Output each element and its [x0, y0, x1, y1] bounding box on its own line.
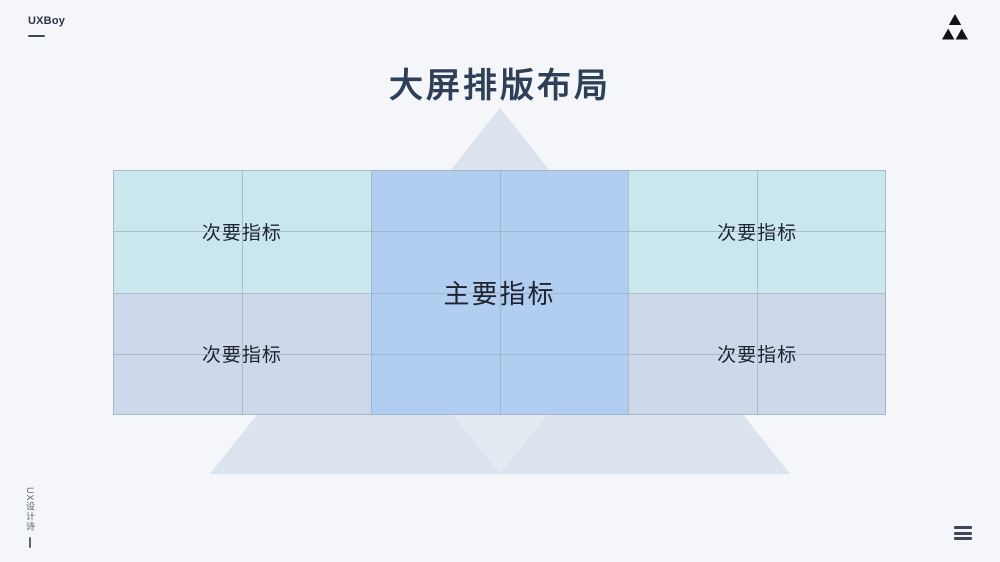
vertical-brand-underline [29, 537, 31, 548]
grid-cell-r1c6 [757, 170, 886, 231]
grid-cell-r1c2 [242, 170, 371, 231]
hamburger-menu-icon[interactable] [954, 526, 972, 540]
page-title: 大屏排版布局 [0, 58, 1000, 107]
brand-underline [28, 35, 45, 37]
grid-cell-r4c6 [757, 354, 886, 415]
grid-cell-r2c4 [499, 231, 628, 292]
brand-mark: UXBoy [28, 14, 65, 37]
grid-cell-r3c4 [499, 293, 628, 354]
grid-cell-r2c3 [371, 231, 500, 292]
grid-cell-r4c5 [628, 354, 757, 415]
grid-cell-r1c1 [113, 170, 242, 231]
grid-cell-r4c4 [499, 354, 628, 415]
triangle-trio-logo-icon [938, 12, 972, 44]
menu-bar-2 [954, 532, 972, 535]
vertical-brand-label: UX设计诗 [24, 487, 35, 532]
grid-cell-r3c6 [757, 293, 886, 354]
grid-cell-r4c3 [371, 354, 500, 415]
menu-bar-1 [954, 526, 972, 529]
slide-canvas: UXBoy 大屏排版布局 [0, 0, 1000, 562]
grid-cell-r3c3 [371, 293, 500, 354]
layout-diagram: 次要指标 次要指标 主要指标 次要指标 次要指标 [113, 170, 886, 415]
vertical-brand-mark: UX设计诗 [24, 487, 35, 548]
grid-cell-r3c5 [628, 293, 757, 354]
brand-name: UXBoy [28, 14, 65, 28]
grid-cell-r3c2 [242, 293, 371, 354]
grid-cell-r1c3 [371, 170, 500, 231]
layout-grid-cells [113, 170, 886, 415]
grid-cell-r1c5 [628, 170, 757, 231]
grid-cell-r2c5 [628, 231, 757, 292]
grid-cell-r2c6 [757, 231, 886, 292]
grid-cell-r4c1 [113, 354, 242, 415]
grid-cell-r2c2 [242, 231, 371, 292]
grid-cell-r1c4 [499, 170, 628, 231]
grid-cell-r4c2 [242, 354, 371, 415]
grid-cell-r2c1 [113, 231, 242, 292]
menu-bar-3 [954, 537, 972, 540]
grid-cell-r3c1 [113, 293, 242, 354]
